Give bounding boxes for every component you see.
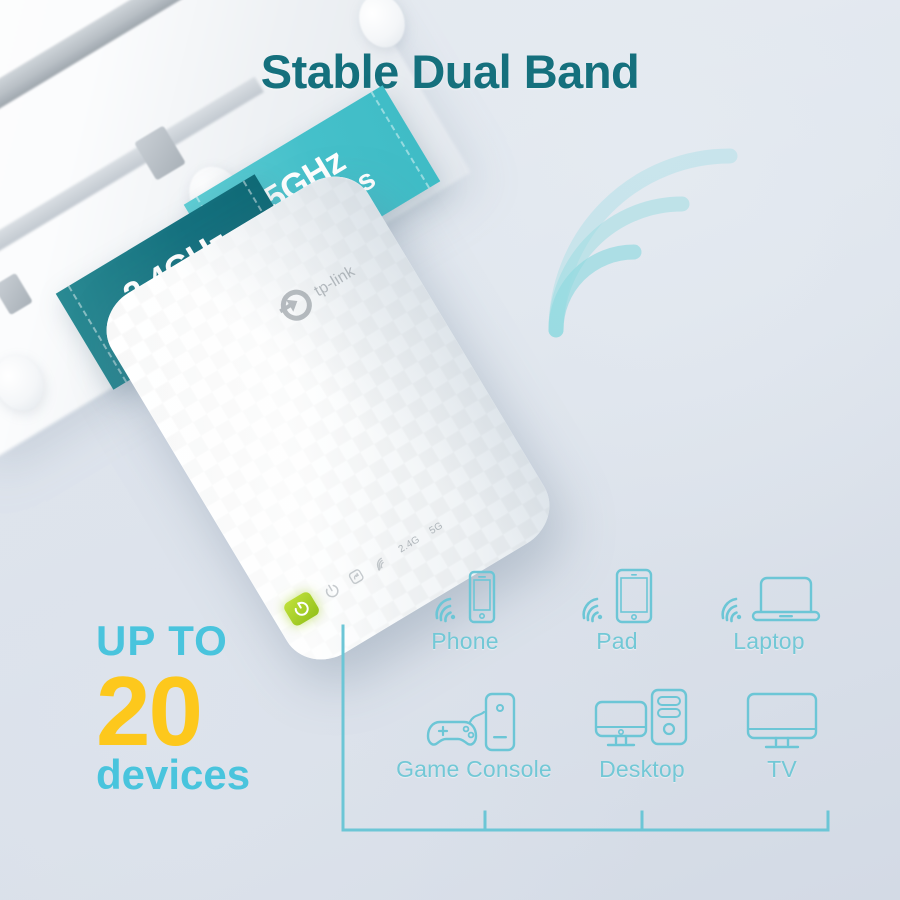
device-item-tv: TV <box>712 694 852 783</box>
desktop-icon <box>594 688 690 752</box>
game-console-icon <box>426 692 522 752</box>
tv-icon <box>746 692 818 752</box>
supported-devices-grid: Phone <box>382 566 872 816</box>
band-led-label-24g: 2.4G <box>396 534 421 555</box>
device-item-game-console: Game Console <box>374 694 574 783</box>
device-label: TV <box>712 756 852 783</box>
wifi-broadcast-arcs <box>548 138 758 338</box>
re-icon <box>346 566 367 587</box>
wifi-signal-icon <box>431 592 461 624</box>
laptop-icon <box>751 574 821 624</box>
device-item-phone: Phone <box>390 566 540 655</box>
device-label: Desktop <box>562 756 722 783</box>
product-marketing-banner: Stable Dual Band 5GHz 433Mbps 2.4GHz 300… <box>0 0 900 900</box>
page-title: Stable Dual Band <box>0 44 900 99</box>
capacity-callout: UP TO 20 devices <box>96 620 366 796</box>
wifi-signal-icon <box>717 592 747 624</box>
phone-icon <box>465 570 499 624</box>
device-item-desktop: Desktop <box>562 694 722 783</box>
device-label: Laptop <box>694 628 844 655</box>
wifi-signal-icon <box>578 592 608 624</box>
device-label: Pad <box>542 628 692 655</box>
device-label: Phone <box>390 628 540 655</box>
device-label: Game Console <box>374 756 574 783</box>
band-led-label-5g: 5G <box>427 520 445 537</box>
tp-link-wordmark: tp-link <box>311 263 358 301</box>
device-item-pad: Pad <box>542 566 692 655</box>
capacity-suffix: devices <box>96 754 366 796</box>
device-item-laptop: Laptop <box>694 566 844 655</box>
power-icon <box>322 580 343 601</box>
tablet-icon <box>612 568 656 624</box>
capacity-count: 20 <box>96 664 366 758</box>
